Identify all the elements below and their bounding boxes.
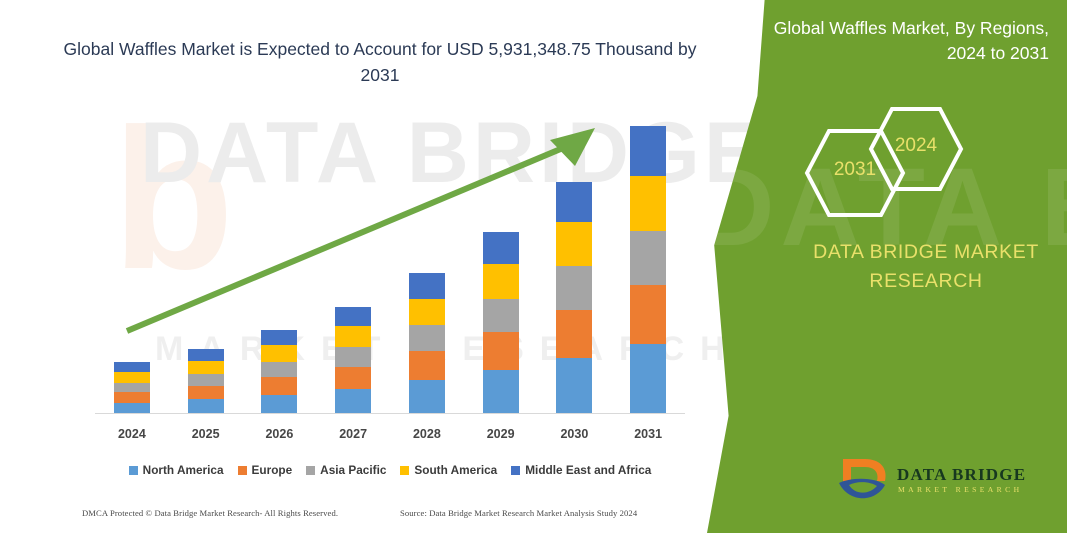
x-axis-labels: 20242025202620272028202920302031	[95, 423, 685, 445]
bar-column	[171, 118, 241, 413]
legend-item[interactable]: Middle East and Africa	[511, 463, 651, 477]
stacked-bar	[630, 126, 666, 413]
footer-source: Source: Data Bridge Market Research Mark…	[400, 508, 637, 518]
bar-column	[466, 118, 536, 413]
bar-segment	[335, 389, 371, 413]
bar-segment	[261, 395, 297, 413]
legend-swatch-icon	[238, 466, 247, 475]
bar-segment	[483, 299, 519, 333]
bar-segment	[114, 403, 150, 413]
legend-swatch-icon	[129, 466, 138, 475]
stacked-bar	[335, 307, 371, 413]
bar-segment	[261, 377, 297, 394]
bar-segment	[188, 399, 224, 413]
bar-segment	[556, 266, 592, 309]
x-axis-label: 2026	[244, 427, 314, 441]
x-axis-label: 2027	[318, 427, 388, 441]
x-axis-line	[95, 413, 685, 414]
bar-segment	[409, 299, 445, 326]
stacked-bars	[95, 118, 685, 413]
panel-title: Global Waffles Market, By Regions, 2024 …	[749, 16, 1049, 67]
bar-segment	[630, 285, 666, 344]
bar-segment	[630, 126, 666, 176]
bar-column	[613, 118, 683, 413]
stacked-bar	[483, 232, 519, 413]
regions-panel: DATA BRIDGE Global Waffles Market, By Re…	[707, 0, 1067, 533]
chart-legend: North AmericaEuropeAsia PacificSouth Ame…	[95, 460, 685, 480]
bar-segment	[335, 326, 371, 347]
infographic-root: b DATA BRIDGE MARKET RESEARCH Global Waf…	[0, 0, 1067, 533]
bar-segment	[409, 380, 445, 413]
bar-segment	[483, 264, 519, 299]
legend-item[interactable]: North America	[129, 463, 224, 477]
legend-label: South America	[414, 463, 497, 477]
bar-column	[97, 118, 167, 413]
bar-column	[318, 118, 388, 413]
footer-copyright: DMCA Protected © Data Bridge Market Rese…	[82, 508, 338, 518]
logo-mark-icon	[835, 455, 893, 507]
data-bridge-logo: DATA BRIDGE MARKET RESEARCH	[835, 455, 1045, 513]
x-axis-label: 2031	[613, 427, 683, 441]
bar-column	[392, 118, 462, 413]
bar-segment	[335, 307, 371, 326]
bar-segment	[188, 349, 224, 361]
hexagon-2024-label: 2024	[867, 135, 965, 157]
legend-swatch-icon	[400, 466, 409, 475]
bar-segment	[556, 310, 592, 358]
hexagon-group: 2031 2024	[803, 105, 973, 215]
chart-pane: b DATA BRIDGE MARKET RESEARCH Global Waf…	[0, 0, 760, 533]
x-axis-label: 2024	[97, 427, 167, 441]
bar-segment	[630, 344, 666, 413]
legend-swatch-icon	[511, 466, 520, 475]
bar-segment	[261, 330, 297, 346]
chart-plot-area	[95, 118, 685, 413]
panel-brand-text: DATA BRIDGE MARKET RESEARCH	[707, 238, 1067, 297]
legend-swatch-icon	[306, 466, 315, 475]
bar-segment	[335, 347, 371, 367]
stacked-bar	[261, 330, 297, 413]
legend-label: Middle East and Africa	[525, 463, 651, 477]
bar-segment	[483, 332, 519, 369]
bar-column	[539, 118, 609, 413]
bar-segment	[556, 358, 592, 413]
legend-item[interactable]: Asia Pacific	[306, 463, 386, 477]
bar-segment	[409, 325, 445, 351]
stacked-bar	[114, 362, 150, 413]
logo-tagline: MARKET RESEARCH	[898, 485, 1023, 494]
hexagon-2024: 2024	[867, 105, 965, 193]
bar-segment	[483, 370, 519, 413]
stacked-bar	[556, 182, 592, 413]
stacked-bar	[409, 273, 445, 413]
bar-segment	[188, 361, 224, 374]
bar-segment	[114, 372, 150, 382]
bar-segment	[335, 367, 371, 389]
x-axis-label: 2029	[466, 427, 536, 441]
x-axis-label: 2028	[392, 427, 462, 441]
bar-segment	[188, 386, 224, 399]
bar-segment	[483, 232, 519, 264]
bar-segment	[630, 176, 666, 231]
legend-label: Europe	[252, 463, 293, 477]
bar-segment	[114, 392, 150, 402]
bar-column	[244, 118, 314, 413]
legend-label: Asia Pacific	[320, 463, 386, 477]
legend-label: North America	[143, 463, 224, 477]
bar-segment	[261, 345, 297, 361]
x-axis-label: 2030	[539, 427, 609, 441]
bar-segment	[556, 222, 592, 266]
x-axis-label: 2025	[171, 427, 241, 441]
bar-segment	[630, 231, 666, 285]
bar-segment	[188, 374, 224, 386]
legend-item[interactable]: South America	[400, 463, 497, 477]
bar-segment	[114, 362, 150, 372]
legend-item[interactable]: Europe	[238, 463, 293, 477]
bar-segment	[409, 351, 445, 380]
bar-segment	[114, 383, 150, 393]
bar-segment	[261, 362, 297, 378]
stacked-bar	[188, 349, 224, 413]
chart-title: Global Waffles Market is Expected to Acc…	[60, 36, 700, 89]
bar-segment	[556, 182, 592, 223]
logo-name: DATA BRIDGE	[897, 465, 1026, 485]
bar-segment	[409, 273, 445, 298]
